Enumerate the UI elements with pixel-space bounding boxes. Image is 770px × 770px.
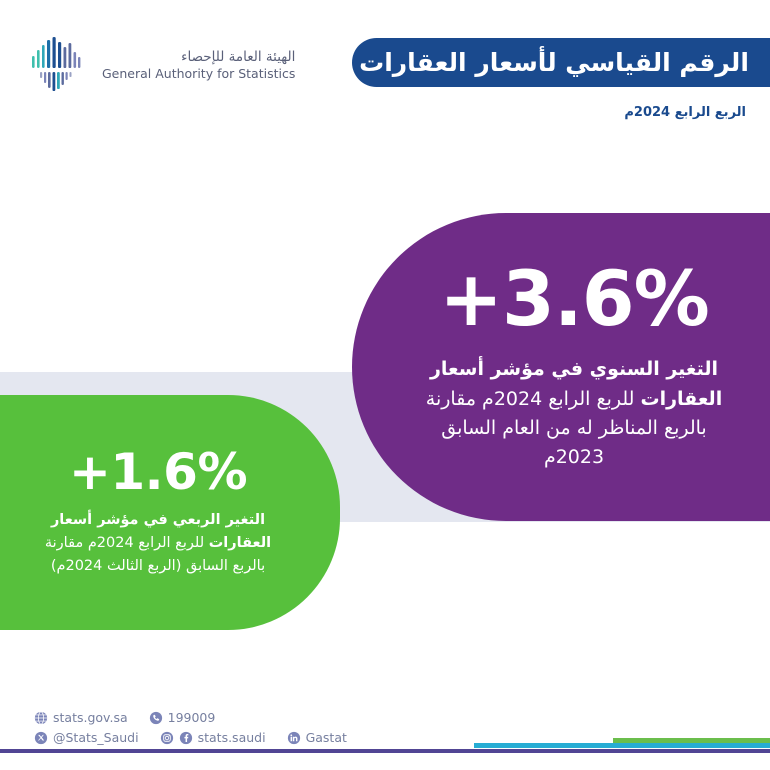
linkedin-link[interactable]: Gastat bbox=[287, 730, 347, 745]
linkedin-icon bbox=[287, 731, 301, 745]
gastat-logo: الهيئة العامة للإحصاء General Authority … bbox=[28, 36, 295, 94]
instagram-icon bbox=[160, 731, 174, 745]
website-label: stats.gov.sa bbox=[53, 710, 128, 725]
x-twitter-icon bbox=[34, 731, 48, 745]
gastat-bars-logo-icon bbox=[28, 36, 94, 94]
logo-english-text: General Authority for Statistics bbox=[102, 67, 295, 80]
facebook-icon bbox=[179, 731, 193, 745]
social-handles[interactable]: stats.saudi bbox=[160, 730, 266, 745]
footer-row-2: @Stats_Saudi stats.saudi bbox=[34, 730, 347, 745]
quarterly-change-card: +1.6% التغير الربعي في مؤشر أسعار العقار… bbox=[0, 395, 340, 630]
linkedin-label: Gastat bbox=[306, 730, 347, 745]
phone-label: 199009 bbox=[168, 710, 216, 725]
logo-arabic-text: الهيئة العامة للإحصاء bbox=[102, 50, 295, 64]
phone-icon bbox=[149, 711, 163, 725]
quarterly-change-value: +1.6% bbox=[69, 447, 247, 497]
footer-row-1: stats.gov.sa 199009 bbox=[34, 710, 347, 725]
footer-contact: stats.gov.sa 199009 @Stats_Saudi bbox=[34, 710, 347, 745]
globe-icon bbox=[34, 711, 48, 725]
annual-change-card: +3.6% التغير السنوي في مؤشر أسعار العقار… bbox=[352, 213, 770, 521]
page-title: الرقم القياسي لأسعار العقارات bbox=[359, 48, 749, 77]
social-handles-label: stats.saudi bbox=[198, 730, 266, 745]
website-link[interactable]: stats.gov.sa bbox=[34, 710, 128, 725]
twitter-label: @Stats_Saudi bbox=[53, 730, 139, 745]
period-subtitle: الربع الرابع 2024م bbox=[624, 105, 746, 120]
quarterly-change-description: التغير الربعي في مؤشر أسعار العقارات للر… bbox=[33, 509, 283, 579]
twitter-link[interactable]: @Stats_Saudi bbox=[34, 730, 139, 745]
bottom-bar-purple bbox=[0, 749, 770, 753]
annual-change-value: +3.6% bbox=[439, 261, 708, 337]
bottom-bar-cyan bbox=[474, 743, 770, 748]
phone-link[interactable]: 199009 bbox=[149, 710, 216, 725]
title-banner: الرقم القياسي لأسعار العقارات bbox=[352, 38, 770, 87]
infographic-canvas: الهيئة العامة للإحصاء General Authority … bbox=[0, 0, 770, 770]
annual-change-description: التغير السنوي في مؤشر أسعار العقارات للر… bbox=[414, 355, 734, 473]
